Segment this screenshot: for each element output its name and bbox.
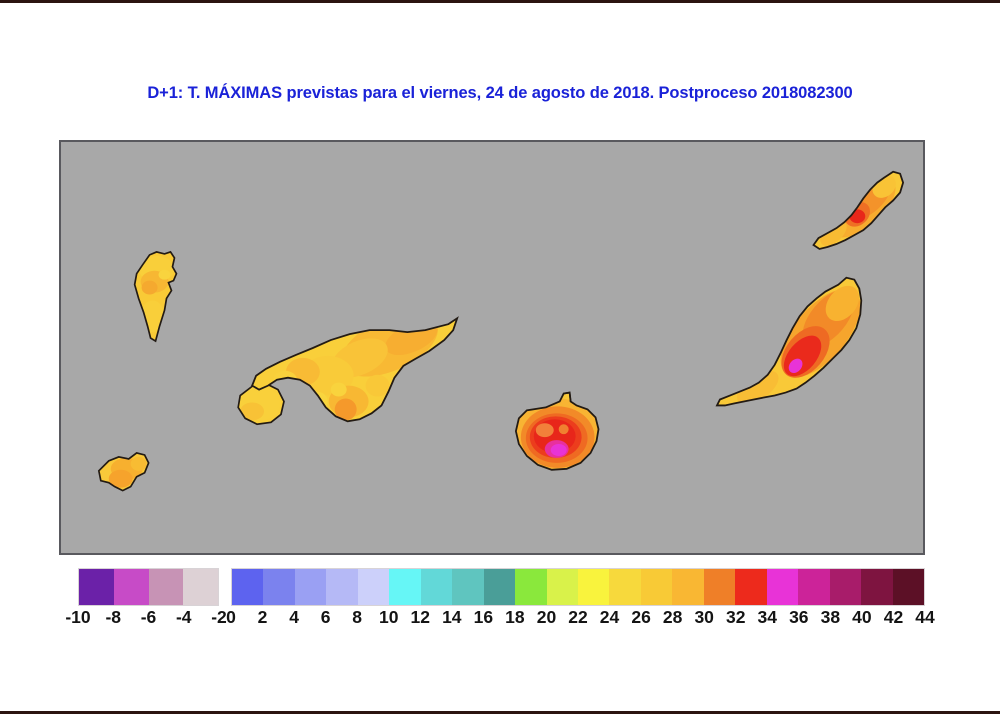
colorbar-tick-label: 40 bbox=[852, 607, 871, 628]
page-title: D+1: T. MÁXIMAS previstas para el vierne… bbox=[0, 84, 1000, 103]
colorbar-tick-label: 28 bbox=[663, 607, 682, 628]
colorbar-swatch bbox=[183, 569, 218, 605]
map-panel bbox=[59, 140, 925, 555]
colorbar-cold-ticks: -10-8-6-4-2 bbox=[78, 607, 219, 633]
colorbar-tick-label: 34 bbox=[758, 607, 777, 628]
colorbar-tick-label: 12 bbox=[411, 607, 430, 628]
colorbar-swatch bbox=[578, 569, 609, 605]
colorbar-tick-label: -6 bbox=[141, 607, 157, 628]
colorbar-tick-label: 6 bbox=[321, 607, 331, 628]
colorbar-swatch bbox=[358, 569, 389, 605]
colorbar-swatch bbox=[830, 569, 861, 605]
colorbar-swatch bbox=[421, 569, 452, 605]
colorbar-tick-label: 4 bbox=[289, 607, 299, 628]
colorbar-tick-label: -8 bbox=[105, 607, 121, 628]
colorbar-tick-label: -2 bbox=[211, 607, 227, 628]
colorbar-tick-label: 22 bbox=[568, 607, 587, 628]
colorbar-swatch bbox=[232, 569, 263, 605]
colorbar-tick-label: 26 bbox=[631, 607, 650, 628]
colorbar-tick-label: 2 bbox=[258, 607, 268, 628]
colorbar-swatch bbox=[295, 569, 326, 605]
colorbar-tick-label: 32 bbox=[726, 607, 745, 628]
island-fuerteventura bbox=[708, 271, 875, 411]
canary-islands-temperature-map bbox=[61, 142, 923, 553]
colorbar-swatch bbox=[263, 569, 294, 605]
colorbar-tick-label: 14 bbox=[442, 607, 461, 628]
colorbar-tick-label: 18 bbox=[505, 607, 524, 628]
colorbar-tick-label: 30 bbox=[694, 607, 713, 628]
colorbar-swatch bbox=[609, 569, 640, 605]
page-border-top bbox=[0, 0, 1000, 3]
colorbar-swatch bbox=[893, 569, 924, 605]
colorbar-tick-label: 20 bbox=[537, 607, 556, 628]
colorbar-tick-label: -4 bbox=[176, 607, 192, 628]
colorbar-swatch bbox=[547, 569, 578, 605]
island-la-palma bbox=[121, 241, 201, 360]
colorbar-swatch bbox=[735, 569, 766, 605]
island-gran-canaria bbox=[509, 388, 609, 477]
colorbar-swatch bbox=[861, 569, 892, 605]
colorbar-swatch bbox=[452, 569, 483, 605]
island-el-hierro bbox=[91, 449, 161, 499]
colorbar-swatch bbox=[515, 569, 546, 605]
colorbar-tick-label: 38 bbox=[821, 607, 840, 628]
colorbar-swatch bbox=[798, 569, 829, 605]
colorbar-swatch bbox=[149, 569, 184, 605]
colorbar-swatch bbox=[79, 569, 114, 605]
island-lanzarote bbox=[806, 166, 911, 255]
colorbar-tick-label: 10 bbox=[379, 607, 398, 628]
colorbar-swatch bbox=[484, 569, 515, 605]
colorbar-tick-label: 0 bbox=[226, 607, 236, 628]
colorbar-tick-label: 8 bbox=[352, 607, 362, 628]
colorbar-cold bbox=[78, 568, 219, 606]
colorbar-swatch bbox=[389, 569, 420, 605]
colorbar-swatch bbox=[326, 569, 357, 605]
colorbar-tick-label: 44 bbox=[915, 607, 934, 628]
colorbar-swatch bbox=[672, 569, 703, 605]
colorbar-tick-label: -10 bbox=[65, 607, 90, 628]
colorbar-swatch bbox=[767, 569, 798, 605]
colorbar-tick-label: 42 bbox=[884, 607, 903, 628]
colorbar-main-ticks: 0246810121416182022242628303234363840424… bbox=[231, 607, 925, 633]
colorbar-swatch bbox=[641, 569, 672, 605]
colorbar-tick-label: 24 bbox=[600, 607, 619, 628]
temperature-colorbar-legend: -10-8-6-4-2 0246810121416182022242628303… bbox=[59, 568, 925, 636]
colorbar-tick-label: 16 bbox=[474, 607, 493, 628]
colorbar-tick-label: 36 bbox=[789, 607, 808, 628]
colorbar-swatch bbox=[114, 569, 149, 605]
colorbar-main bbox=[231, 568, 925, 606]
colorbar-swatch bbox=[704, 569, 735, 605]
